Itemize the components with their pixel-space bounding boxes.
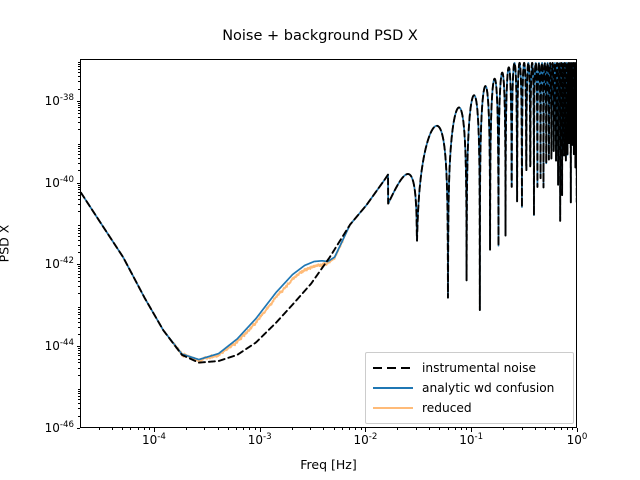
axis-tick — [78, 327, 80, 328]
axis-tick — [561, 428, 562, 430]
axis-tick — [260, 428, 261, 432]
axis-tick — [78, 403, 80, 404]
axis-tick — [349, 428, 350, 430]
axis-tick — [78, 396, 80, 397]
axis-tick — [78, 312, 80, 313]
axis-tick — [365, 428, 366, 432]
axis-tick — [78, 277, 80, 278]
axis-tick — [78, 81, 80, 82]
axis-tick — [78, 199, 80, 200]
axis-tick — [78, 375, 80, 376]
axis-tick — [78, 146, 80, 147]
axis-tick — [78, 399, 80, 400]
axis-tick — [112, 428, 113, 430]
axis-tick — [154, 428, 155, 432]
chart-title: Noise + background PSD X — [0, 28, 640, 44]
axis-tick — [471, 428, 472, 432]
axis-tick — [236, 428, 237, 430]
axis-tick — [77, 183, 81, 184]
axis-tick — [455, 428, 456, 430]
axis-tick — [78, 189, 80, 190]
axis-tick — [78, 268, 80, 269]
axis-tick — [78, 107, 80, 108]
axis-tick — [78, 274, 80, 275]
axis-tick — [78, 228, 80, 229]
axis-tick — [78, 158, 80, 159]
series-line-instrumental-noise — [81, 63, 577, 363]
legend-swatch-dashed-icon — [373, 362, 413, 374]
axis-tick — [439, 428, 440, 430]
axis-tick — [78, 334, 80, 335]
axis-tick — [323, 428, 324, 430]
legend-entry-reduced[interactable]: reduced — [373, 398, 566, 418]
axis-tick — [292, 428, 293, 430]
axis-tick — [78, 64, 80, 65]
axis-tick — [78, 89, 80, 90]
axis-tick — [78, 350, 80, 351]
y-tick-label-group: 10-3810-4010-4210-4410-46 — [0, 0, 74, 480]
axis-tick — [448, 428, 449, 430]
axis-tick — [249, 428, 250, 430]
axis-tick — [77, 264, 81, 265]
axis-tick — [78, 408, 80, 409]
axis-tick — [78, 151, 80, 152]
axis-tick — [78, 110, 80, 111]
axis-tick — [78, 391, 80, 392]
axis-tick — [204, 428, 205, 430]
axis-tick — [545, 428, 546, 430]
axis-tick — [78, 322, 80, 323]
y-tick-label: 10-40 — [45, 176, 74, 190]
legend-label: instrumental noise — [422, 361, 536, 375]
axis-tick — [78, 359, 80, 360]
axis-tick — [78, 271, 80, 272]
axis-tick — [78, 148, 80, 149]
axis-tick — [334, 428, 335, 430]
axis-tick — [310, 428, 311, 430]
axis-tick — [78, 154, 80, 155]
axis-tick — [461, 428, 462, 430]
axis-tick — [577, 428, 578, 432]
axis-tick — [77, 346, 81, 347]
axis-tick — [78, 281, 80, 282]
axis-tick — [138, 428, 139, 430]
axis-tick — [78, 293, 80, 294]
axis-tick — [78, 368, 80, 369]
x-axis-label: Freq [Hz] — [80, 457, 577, 472]
axis-tick — [78, 211, 80, 212]
axis-tick — [342, 428, 343, 430]
axis-tick — [78, 230, 80, 231]
axis-tick — [78, 416, 80, 417]
axis-tick — [122, 428, 123, 430]
axis-tick — [78, 236, 80, 237]
axis-tick — [535, 428, 536, 430]
axis-tick — [78, 72, 80, 73]
axis-tick — [567, 428, 568, 430]
axis-tick — [522, 428, 523, 430]
axis-tick — [78, 307, 80, 308]
y-tick-label: 10-44 — [45, 339, 74, 353]
axis-tick — [144, 428, 145, 430]
legend-entry-analytic-wd-confusion[interactable]: analytic wd confusion — [373, 378, 566, 398]
axis-tick — [78, 225, 80, 226]
axis-tick — [130, 428, 131, 430]
y-tick-label: 10-42 — [45, 257, 74, 271]
axis-tick — [78, 117, 80, 118]
axis-tick — [78, 122, 80, 123]
axis-tick — [78, 144, 80, 145]
legend-swatch-blue-line-icon — [373, 382, 413, 394]
axis-tick — [78, 309, 80, 310]
axis-tick — [243, 428, 244, 430]
axis-tick — [78, 163, 80, 164]
axis-tick — [429, 428, 430, 430]
axis-tick — [78, 348, 80, 349]
legend-swatch-orange-line-icon — [373, 402, 413, 414]
axis-tick — [77, 428, 81, 429]
axis-tick — [78, 233, 80, 234]
axis-tick — [78, 195, 80, 196]
axis-tick — [416, 428, 417, 430]
axis-tick — [78, 318, 80, 319]
x-tick-label: 100 — [567, 433, 588, 447]
legend-label: reduced — [422, 401, 472, 415]
legend-entry-instrumental-noise[interactable]: instrumental noise — [373, 358, 566, 378]
axis-tick — [78, 129, 80, 130]
figure-canvas: Noise + background PSD X PSD X 10-3810-4… — [0, 0, 640, 480]
axis-tick — [78, 187, 80, 188]
axis-tick — [554, 428, 555, 430]
axis-tick — [78, 204, 80, 205]
axis-tick — [78, 103, 80, 104]
y-tick-label: 10-46 — [45, 421, 74, 435]
axis-tick — [78, 240, 80, 241]
axis-tick — [78, 69, 80, 70]
axis-tick — [361, 428, 362, 430]
axis-tick — [78, 389, 80, 390]
axis-tick — [78, 252, 80, 253]
axis-tick — [78, 245, 80, 246]
axis-tick — [78, 76, 80, 77]
axis-tick — [78, 113, 80, 114]
axis-tick — [466, 428, 467, 430]
axis-tick — [78, 362, 80, 363]
axis-tick — [255, 428, 256, 430]
axis-tick — [78, 355, 80, 356]
axis-tick — [78, 66, 80, 67]
x-tick-label: 10-2 — [354, 433, 378, 447]
axis-tick — [503, 428, 504, 430]
x-tick-label: 10-1 — [459, 433, 483, 447]
axis-tick — [77, 101, 81, 102]
axis-tick — [78, 105, 80, 106]
axis-tick — [99, 428, 100, 430]
axis-tick — [78, 393, 80, 394]
axis-tick — [228, 428, 229, 430]
axis-tick — [78, 170, 80, 171]
axis-tick — [78, 266, 80, 267]
axis-tick — [572, 428, 573, 430]
axis-tick — [78, 185, 80, 186]
axis-tick — [149, 428, 150, 430]
y-tick-label: 10-38 — [45, 94, 74, 108]
axis-tick — [397, 428, 398, 430]
axis-tick — [355, 428, 356, 430]
axis-tick — [78, 314, 80, 315]
legend-label: analytic wd confusion — [422, 381, 554, 395]
x-tick-label: 10-3 — [248, 433, 272, 447]
axis-tick — [78, 62, 80, 63]
axis-tick — [78, 192, 80, 193]
axis-tick — [186, 428, 187, 430]
axis-tick — [78, 353, 80, 354]
axis-tick — [78, 286, 80, 287]
chart-legend[interactable]: instrumental noise analytic wd confusion… — [365, 352, 574, 424]
x-tick-label: 10-4 — [142, 433, 166, 447]
axis-tick — [218, 428, 219, 430]
